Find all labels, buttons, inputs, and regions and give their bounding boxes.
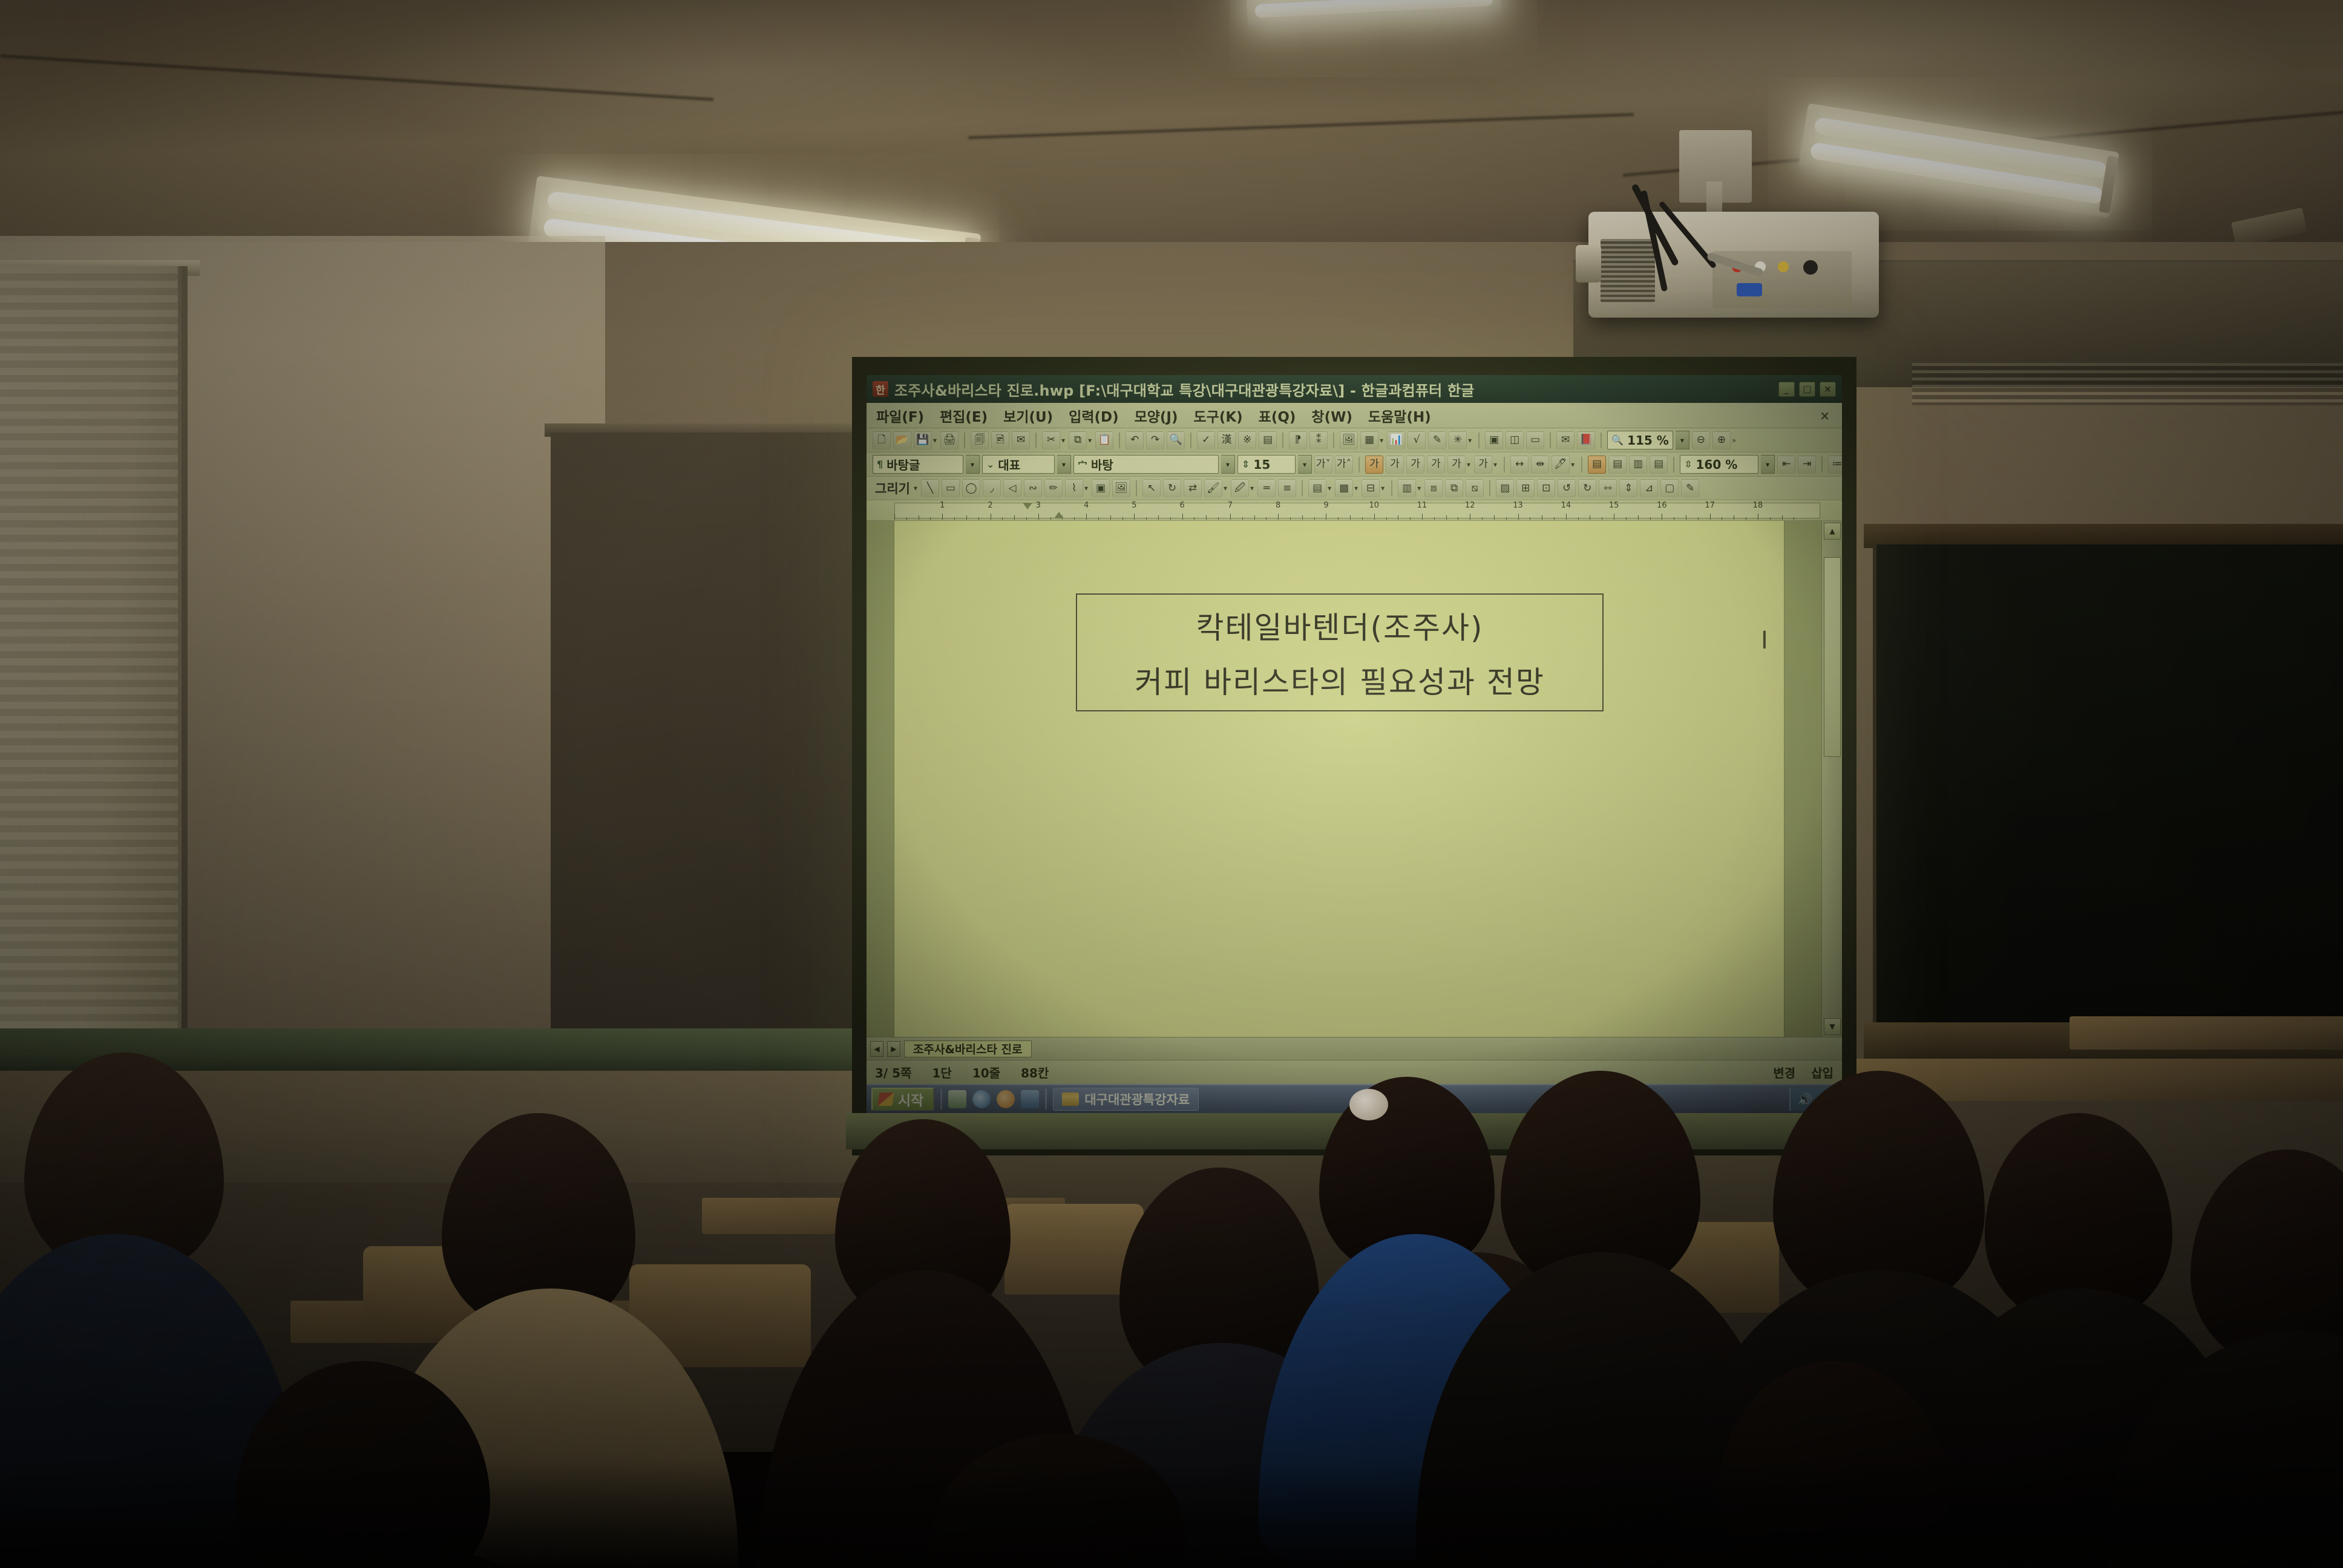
ruler-tick bbox=[1386, 517, 1387, 520]
ruler-tick bbox=[1182, 514, 1183, 520]
ruler-number: 6 bbox=[1180, 501, 1185, 510]
hair-clip-accessory bbox=[1349, 1089, 1388, 1120]
ruler-tick bbox=[1590, 515, 1590, 520]
ruler-tick bbox=[1782, 515, 1783, 520]
envelope-icon[interactable]: ✉ bbox=[1556, 431, 1575, 449]
ruler-tick bbox=[1554, 517, 1555, 520]
text-color-drop-icon[interactable]: ▾ bbox=[1493, 460, 1497, 469]
redo-icon[interactable]: ↷ bbox=[1146, 431, 1164, 449]
ruler-tick bbox=[1770, 517, 1771, 520]
ruler-number: 12 bbox=[1465, 501, 1475, 510]
toolbar-overflow-icon[interactable]: » bbox=[1732, 436, 1736, 445]
ruler-number: 4 bbox=[1084, 501, 1089, 510]
projected-desktop: 한 조주사&바리스타 진로.hwp [F:\대구대학교 특강\대구대관광특강자료… bbox=[867, 375, 1842, 1113]
ruler-tick bbox=[1098, 517, 1099, 520]
ruler-tick bbox=[1506, 517, 1507, 520]
ruler-tick bbox=[1458, 517, 1458, 520]
folder-icon bbox=[1062, 1093, 1079, 1106]
menu-edit[interactable]: 편집(E) bbox=[940, 405, 988, 426]
ruler-tick bbox=[1218, 517, 1219, 520]
line-spacing-combo[interactable]: ⇳ 160 % bbox=[1680, 455, 1758, 474]
start-button[interactable]: 시작 bbox=[871, 1088, 934, 1111]
menu-tools[interactable]: 도구(K) bbox=[1194, 405, 1243, 426]
wall-dark-panel bbox=[551, 433, 871, 1056]
ruler-tick bbox=[1494, 515, 1495, 520]
close-button[interactable]: × bbox=[1820, 382, 1836, 397]
label-icon[interactable]: 📕 bbox=[1577, 431, 1595, 449]
document-close-icon[interactable]: × bbox=[1820, 408, 1832, 423]
ruler-tick bbox=[1626, 517, 1627, 520]
fill-color-icon[interactable]: 🖌 bbox=[1204, 479, 1222, 497]
ruler-tick bbox=[978, 517, 979, 520]
outline-level-value: 대표 bbox=[998, 456, 1020, 473]
ruler-tick bbox=[1110, 515, 1111, 520]
ruler-number: 2 bbox=[988, 501, 992, 510]
projector-port-blue bbox=[1737, 283, 1762, 296]
new-document-icon[interactable]: 🗋 bbox=[873, 431, 891, 449]
decrease-font-icon[interactable]: 가˅ bbox=[1314, 456, 1332, 474]
outline-level-dropdown[interactable]: ▾ bbox=[1057, 455, 1071, 474]
ruler-number: 10 bbox=[1369, 501, 1379, 510]
hwp-app-icon: 한 bbox=[873, 381, 888, 397]
char-spacing-icon[interactable]: ↔ bbox=[1510, 456, 1529, 474]
indent-decrease-icon[interactable]: ⇤ bbox=[1777, 456, 1795, 474]
polygon-tool-icon[interactable]: ◁ bbox=[1003, 479, 1021, 497]
drawing-icon[interactable]: ✎ bbox=[1428, 431, 1446, 449]
shape-drop-icon[interactable]: ▾ bbox=[1468, 436, 1472, 445]
underline-button[interactable]: 가 bbox=[1406, 456, 1424, 474]
zoom-level-value: 115 % bbox=[1627, 433, 1669, 448]
ruler-tick bbox=[1602, 517, 1602, 520]
ruler-tick bbox=[1446, 515, 1447, 520]
ruler-tick bbox=[1350, 515, 1351, 520]
tab-next-button[interactable]: ▶ bbox=[887, 1041, 900, 1057]
chart-icon[interactable]: 📊 bbox=[1387, 431, 1405, 449]
ruler-tick bbox=[1530, 517, 1530, 520]
ruler-number: 11 bbox=[1417, 501, 1427, 510]
ruler-tick bbox=[1014, 515, 1015, 520]
save-drop-icon[interactable]: ▾ bbox=[933, 436, 937, 445]
font-size-value: 15 bbox=[1253, 457, 1270, 472]
ruler-number: 13 bbox=[1513, 501, 1523, 510]
horizontal-ruler[interactable]: 123456789101112131415161718 bbox=[867, 500, 1842, 521]
table-icon[interactable]: ▦ bbox=[1360, 431, 1378, 449]
line-color-drop-icon[interactable]: ▾ bbox=[1250, 484, 1254, 492]
ruler-tick bbox=[966, 515, 967, 520]
bring-front-icon[interactable]: ⧉ bbox=[1445, 479, 1463, 497]
document-page[interactable]: 칵테일바텐더(조주사) 커피 바리스타의 필요성과 전망 강사 : 배승구 bbox=[894, 521, 1784, 1037]
ruler-tick bbox=[1362, 517, 1363, 520]
ruler-tick bbox=[894, 514, 895, 520]
open-file-icon[interactable]: 📂 bbox=[893, 431, 911, 449]
vertical-scrollbar[interactable]: ▲ ▼ bbox=[1821, 521, 1842, 1037]
magnifier-icon: 🔍 bbox=[1611, 434, 1624, 446]
char-width-icon[interactable]: ⇹ bbox=[1531, 456, 1549, 474]
ruler-number: 18 bbox=[1753, 501, 1763, 510]
status-insert-mode: 삽입 bbox=[1811, 1063, 1833, 1081]
ruler-number: 16 bbox=[1657, 501, 1667, 510]
find-icon[interactable]: 🔍 bbox=[1167, 431, 1185, 449]
ruler-tick bbox=[919, 515, 919, 520]
ruler-tick bbox=[1686, 515, 1686, 520]
zoom-level-combo[interactable]: 🔍 115 % bbox=[1607, 431, 1673, 449]
status-change-mode: 변경 bbox=[1773, 1063, 1795, 1081]
ruler-tick bbox=[954, 517, 955, 520]
send-back-icon[interactable]: ⧅ bbox=[1466, 479, 1484, 497]
align-left-icon[interactable]: ▤ bbox=[1608, 456, 1627, 474]
internet-explorer-icon[interactable] bbox=[972, 1090, 991, 1108]
line-style-icon[interactable]: ═ bbox=[1257, 479, 1276, 497]
curve-tool-icon[interactable]: ∾ bbox=[1024, 479, 1042, 497]
menu-input[interactable]: 입력(D) bbox=[1069, 405, 1118, 426]
ruler-number: 15 bbox=[1609, 501, 1619, 510]
print-preview-icon[interactable]: 🗐 bbox=[971, 431, 989, 449]
rectangle-tool-icon[interactable]: ▭ bbox=[942, 479, 960, 497]
ruler-tick bbox=[1614, 514, 1614, 520]
document-canvas[interactable]: 칵테일바텐더(조주사) 커피 바리스타의 필요성과 전망 강사 : 배승구 I … bbox=[867, 521, 1842, 1037]
save-file-icon[interactable]: 💾 bbox=[914, 431, 932, 449]
ruler-tick bbox=[1170, 517, 1171, 520]
scroll-down-button[interactable]: ▼ bbox=[1824, 1018, 1841, 1035]
ruler-tick bbox=[1758, 514, 1758, 520]
ruler-tick bbox=[1194, 517, 1194, 520]
outlook-icon[interactable] bbox=[1021, 1090, 1039, 1108]
group-drop-icon[interactable]: ▾ bbox=[1417, 484, 1421, 492]
lecture-hall-scene: 한 조주사&바리스타 진로.hwp [F:\대구대학교 특강\대구대관광특강자료… bbox=[0, 0, 2343, 1568]
caption-icon[interactable]: ✎ bbox=[1681, 479, 1699, 497]
ruler-tick bbox=[1398, 515, 1398, 520]
ruler-tick bbox=[1002, 517, 1003, 520]
menu-help[interactable]: 도움말(H) bbox=[1368, 405, 1431, 426]
projector-vent bbox=[1601, 239, 1655, 302]
ungroup-icon[interactable]: ⧈ bbox=[1424, 479, 1443, 497]
document-title-line-1: 칵테일바텐더(조주사) bbox=[1196, 604, 1483, 647]
select-object-icon[interactable]: ↖ bbox=[1142, 479, 1161, 497]
3d-effect-icon[interactable]: ▩ bbox=[1335, 479, 1353, 497]
ruler-tick bbox=[1482, 517, 1483, 520]
align-center-icon[interactable]: ▥ bbox=[1629, 456, 1647, 474]
show-desktop-icon[interactable] bbox=[948, 1090, 966, 1108]
highlight-icon[interactable]: 🖊 bbox=[1552, 456, 1570, 474]
ruler-tick bbox=[991, 514, 991, 520]
ruler-tick bbox=[1518, 514, 1519, 520]
font-face-icon: 宀 bbox=[1078, 457, 1087, 472]
start-button-label: 시작 bbox=[898, 1089, 923, 1109]
ruler-tick bbox=[1158, 515, 1159, 520]
align-objects-icon[interactable]: ⊟ bbox=[1362, 479, 1380, 497]
line-tool-icon[interactable]: ╲ bbox=[921, 479, 939, 497]
paragraph-style-combo[interactable]: ¶ 바탕글 bbox=[873, 455, 963, 474]
hwp-title-bar: 한 조주사&바리스타 진로.hwp [F:\대구대학교 특강\대구대관광특강자료… bbox=[867, 375, 1842, 403]
line-color-icon[interactable]: 🖉 bbox=[1231, 479, 1249, 497]
menu-shape[interactable]: 모양(J) bbox=[1135, 405, 1178, 426]
ruler-tick bbox=[1794, 517, 1794, 520]
ruler-number: 1 bbox=[940, 501, 945, 510]
clipart-tool-icon[interactable]: 🖼 bbox=[1112, 479, 1130, 497]
hwp-menu-bar: 파일(F) 편집(E) 보기(U) 입력(D) 모양(J) 도구(K) 표(Q)… bbox=[867, 403, 1842, 428]
ruler-tick bbox=[1638, 515, 1639, 520]
spell-check-icon[interactable]: ✓ bbox=[1197, 431, 1215, 449]
highlight-drop-icon[interactable]: ▾ bbox=[1571, 460, 1575, 469]
font-size-combo[interactable]: ⇕ 15 bbox=[1237, 455, 1296, 474]
cut-icon[interactable]: ✂ bbox=[1042, 431, 1060, 449]
endnote-icon[interactable]: ⁑ bbox=[1309, 431, 1328, 449]
ruler-number: 8 bbox=[1276, 501, 1280, 510]
media-player-icon[interactable] bbox=[997, 1090, 1015, 1108]
textbox-tool-icon[interactable]: ▣ bbox=[1092, 479, 1110, 497]
ruler-number: 17 bbox=[1705, 501, 1715, 510]
ruler-tick bbox=[1710, 514, 1711, 520]
foreground-shadow bbox=[0, 1459, 2343, 1568]
ruler-tick bbox=[1662, 514, 1662, 520]
shadow-drop-icon[interactable]: ▾ bbox=[1328, 484, 1331, 492]
ruler-tick bbox=[1242, 517, 1243, 520]
crop-icon[interactable]: ⊿ bbox=[1640, 479, 1658, 497]
ruler-tick bbox=[1302, 515, 1303, 520]
rotate-icon[interactable]: ↻ bbox=[1163, 479, 1181, 497]
indent-increase-icon[interactable]: ⇥ bbox=[1798, 456, 1816, 474]
menu-table[interactable]: 표(Q) bbox=[1259, 405, 1296, 426]
scroll-thumb[interactable] bbox=[1824, 557, 1841, 757]
ruler-tick bbox=[1134, 514, 1135, 520]
paragraph-style-value: 바탕글 bbox=[886, 456, 920, 473]
numbered-list-icon[interactable]: ≔ bbox=[1828, 456, 1842, 474]
footnote-icon[interactable]: ⁋ bbox=[1289, 431, 1307, 449]
table-drop-icon[interactable]: ▾ bbox=[1380, 436, 1383, 445]
projector-port-yellow bbox=[1778, 261, 1789, 272]
zoom-dropdown-arrow[interactable]: ▾ bbox=[1676, 431, 1689, 449]
ruler-tick bbox=[1422, 514, 1423, 520]
ruler-tick bbox=[1746, 517, 1746, 520]
chalkboard bbox=[1873, 544, 2343, 1028]
ruler-tick bbox=[1206, 515, 1207, 520]
hwp-standard-toolbar: 🗋 📂 💾 ▾ 🖨 🗐 🖻 ✉ ✂ ▾ ⧉ ▾ 📋 ↶ ↷ 🔍 bbox=[867, 428, 1842, 452]
picture-icon[interactable]: 🖼 bbox=[1340, 431, 1358, 449]
rotate-left-icon[interactable]: ↺ bbox=[1558, 479, 1576, 497]
superscript-button[interactable]: 가 bbox=[1447, 456, 1466, 474]
strikethrough-button[interactable]: 가 bbox=[1427, 456, 1445, 474]
ruler-tick bbox=[1290, 517, 1291, 520]
status-page: 3/ 5쪽 bbox=[875, 1063, 912, 1081]
ruler-tick bbox=[1734, 515, 1734, 520]
cut-drop-icon[interactable]: ▾ bbox=[1061, 436, 1065, 445]
desk bbox=[2069, 1016, 2343, 1050]
print-setup-icon[interactable]: 🖻 bbox=[991, 431, 1009, 449]
tab-prev-button[interactable]: ◀ bbox=[870, 1041, 883, 1057]
window-blind bbox=[0, 266, 182, 1065]
drawing-toolbar-label: 그리기 bbox=[873, 479, 913, 497]
arc-tool-icon[interactable]: ◞ bbox=[983, 479, 1001, 497]
ruler-tick bbox=[1326, 514, 1326, 520]
hvac-vent-slats bbox=[1912, 363, 2343, 405]
ruler-number: 9 bbox=[1323, 501, 1328, 510]
ruler-tick bbox=[1122, 517, 1123, 520]
hwp-drawing-toolbar: 그리기 ▾ ╲ ▭ ◯ ◞ ◁ ∾ ✏ ⌇ ▾ ▣ 🖼 ↖ ↻ ⇄ 🖌 ▾ 🖉 bbox=[867, 477, 1842, 500]
italic-button[interactable]: 가 bbox=[1386, 456, 1404, 474]
align-right-icon[interactable]: ▤ bbox=[1650, 456, 1668, 474]
ruler-number: 7 bbox=[1228, 501, 1233, 510]
status-char: 88칸 bbox=[1021, 1063, 1049, 1081]
ruler-tick bbox=[1278, 514, 1279, 520]
ruler-tick bbox=[1566, 514, 1567, 520]
pencil-tool-icon[interactable]: ✏ bbox=[1044, 479, 1063, 497]
ruler-tick bbox=[1254, 515, 1255, 520]
line-width-icon[interactable]: ≡ bbox=[1278, 479, 1296, 497]
ruler-tick bbox=[1230, 514, 1231, 520]
mail-icon[interactable]: ✉ bbox=[1012, 431, 1030, 449]
undo-icon[interactable]: ↶ bbox=[1126, 431, 1144, 449]
print-icon[interactable]: 🖨 bbox=[940, 431, 958, 449]
window-title: 조주사&바리스타 진로.hwp [F:\대구대학교 특강\대구대관광특강자료\]… bbox=[894, 379, 1772, 400]
align-objects-drop-icon[interactable]: ▾ bbox=[1381, 484, 1384, 492]
projector-port-black bbox=[1803, 260, 1818, 275]
ruler-number: 14 bbox=[1561, 501, 1571, 510]
memo-icon[interactable]: ▤ bbox=[1259, 431, 1277, 449]
first-line-indent-marker[interactable] bbox=[1023, 503, 1032, 509]
shape-icon[interactable]: ✳ bbox=[1449, 431, 1467, 449]
minimize-button[interactable]: _ bbox=[1778, 382, 1795, 397]
ellipse-tool-icon[interactable]: ◯ bbox=[962, 479, 980, 497]
scroll-up-button[interactable]: ▲ bbox=[1824, 523, 1841, 540]
document-title-line-2: 커피 바리스타의 필요성과 전망 bbox=[1135, 658, 1545, 702]
status-line: 10줄 bbox=[972, 1063, 1000, 1081]
line-spacing-dropdown[interactable]: ▾ bbox=[1761, 455, 1775, 474]
rotate-right-icon[interactable]: ↻ bbox=[1578, 479, 1596, 497]
superscript-drop-icon[interactable]: ▾ bbox=[1467, 460, 1470, 469]
ruler-tick bbox=[1698, 517, 1699, 520]
ruler-tick bbox=[1470, 514, 1470, 520]
ruler-tick bbox=[1050, 517, 1051, 520]
ruler-tick bbox=[1722, 517, 1722, 520]
ruler-number: 5 bbox=[1132, 501, 1136, 510]
copy-drop-icon[interactable]: ▾ bbox=[1088, 436, 1092, 445]
ruler-tick bbox=[1410, 517, 1411, 520]
paste-icon[interactable]: 📋 bbox=[1095, 431, 1113, 449]
zoom-in-icon[interactable]: ⊕ bbox=[1712, 431, 1731, 449]
form-icon[interactable]: ▣ bbox=[1485, 431, 1503, 449]
title-text-box: 칵테일바텐더(조주사) 커피 바리스타의 필요성과 전망 bbox=[1076, 593, 1604, 711]
ruler-tick bbox=[1542, 515, 1542, 520]
document-tab[interactable]: 조주사&바리스타 진로 bbox=[904, 1040, 1032, 1057]
line-spacing-value: 160 % bbox=[1696, 457, 1738, 472]
increase-font-icon[interactable]: 가˄ bbox=[1335, 456, 1353, 474]
paragraph-style-dropdown[interactable]: ▾ bbox=[966, 455, 980, 474]
ruler-tick bbox=[1038, 514, 1039, 520]
ruler-tick bbox=[1074, 517, 1075, 520]
menu-window[interactable]: 창(W) bbox=[1311, 405, 1352, 426]
font-size-dropdown[interactable]: ▾ bbox=[1298, 455, 1312, 474]
outline-level-icon: ⌄ bbox=[986, 459, 994, 470]
equation-icon[interactable]: √ bbox=[1407, 431, 1426, 449]
ruler-tick bbox=[906, 517, 907, 520]
ruler-tick bbox=[930, 517, 931, 520]
font-face-value: 바탕 bbox=[1091, 456, 1113, 473]
drawing-drop-icon[interactable]: ▾ bbox=[914, 484, 917, 492]
ruler-tick bbox=[1374, 514, 1375, 520]
outline-level-combo[interactable]: ⌄ 대표 bbox=[982, 455, 1055, 474]
left-indent-marker[interactable] bbox=[1054, 512, 1064, 518]
3d-drop-icon[interactable]: ▾ bbox=[1354, 484, 1358, 492]
window-controls: _ □ × bbox=[1778, 382, 1836, 397]
font-face-combo[interactable]: 宀 바탕 bbox=[1073, 455, 1219, 474]
bold-button[interactable]: 가 bbox=[1365, 456, 1383, 474]
paragraph-style-icon: ¶ bbox=[877, 459, 883, 470]
hwp-status-bar: 3/ 5쪽 1단 10줄 88칸 변경 삽입 bbox=[867, 1060, 1842, 1084]
maximize-button[interactable]: □ bbox=[1799, 382, 1815, 397]
font-size-icon: ⇕ bbox=[1242, 459, 1250, 470]
menu-view[interactable]: 보기(U) bbox=[1003, 405, 1053, 426]
line-spacing-icon: ⇳ bbox=[1684, 459, 1692, 470]
document-tab-bar: ◀ ▶ 조주사&바리스타 진로 bbox=[867, 1037, 1842, 1060]
hanja-icon[interactable]: 漢 bbox=[1217, 431, 1236, 449]
ruler-tick bbox=[1314, 517, 1315, 520]
connector-drop-icon[interactable]: ▾ bbox=[1084, 484, 1088, 492]
grid-icon[interactable]: ⊞ bbox=[1516, 479, 1535, 497]
flip-icon[interactable]: ⇄ bbox=[1184, 479, 1202, 497]
connector-tool-icon[interactable]: ⌇ bbox=[1065, 479, 1083, 497]
flip-h-icon[interactable]: ⇿ bbox=[1599, 479, 1617, 497]
ruler-tick bbox=[1434, 517, 1435, 520]
ruler-tick bbox=[1650, 517, 1651, 520]
object-properties-icon[interactable]: ▨ bbox=[1496, 479, 1514, 497]
menu-file[interactable]: 파일(F) bbox=[876, 405, 924, 426]
align-justify-icon[interactable]: ▤ bbox=[1588, 456, 1606, 474]
flip-v-icon[interactable]: ⇕ bbox=[1619, 479, 1637, 497]
projector-lens bbox=[1576, 245, 1601, 283]
snap-icon[interactable]: ⊡ bbox=[1537, 479, 1555, 497]
insert-frame-icon[interactable]: ▢ bbox=[1660, 479, 1679, 497]
taskbar-item-label: 대구대관광특강자료 bbox=[1084, 1090, 1190, 1108]
windows-flag-icon bbox=[877, 1093, 894, 1106]
shadow-icon[interactable]: ▤ bbox=[1308, 479, 1326, 497]
zoom-out-icon[interactable]: ⊖ bbox=[1692, 431, 1710, 449]
ruler-tick bbox=[1026, 517, 1027, 520]
ruler-tick bbox=[1086, 514, 1087, 520]
ruler-tick bbox=[1578, 517, 1579, 520]
ruler-tick bbox=[1674, 517, 1674, 520]
taskbar-item-folder[interactable]: 대구대관광특강자료 bbox=[1053, 1088, 1199, 1111]
text-caret: I bbox=[1761, 629, 1768, 653]
ruler-tick bbox=[942, 514, 943, 520]
ruler-tick bbox=[1146, 517, 1147, 520]
font-face-dropdown[interactable]: ▾ bbox=[1221, 455, 1235, 474]
text-color-icon[interactable]: 가 bbox=[1474, 456, 1492, 474]
hwp-application-window: 한 조주사&바리스타 진로.hwp [F:\대구대학교 특강\대구대관광특강자료… bbox=[867, 375, 1842, 1113]
ruler-number: 3 bbox=[1036, 501, 1041, 510]
fill-color-drop-icon[interactable]: ▾ bbox=[1224, 484, 1227, 492]
ruler-tick bbox=[1338, 517, 1339, 520]
status-column: 1단 bbox=[932, 1063, 952, 1081]
copy-icon[interactable]: ⧉ bbox=[1069, 431, 1087, 449]
hwp-format-toolbar: ¶ 바탕글 ▾ ⌄ 대표 ▾ 宀 바탕 ▾ ⇕ 15 ▾ bbox=[867, 452, 1842, 477]
page-layout-icon[interactable]: ▭ bbox=[1526, 431, 1544, 449]
ruler-track bbox=[894, 503, 1820, 518]
frame-icon[interactable]: ◫ bbox=[1506, 431, 1524, 449]
group-icon[interactable]: ▥ bbox=[1398, 479, 1416, 497]
special-char-icon[interactable]: ※ bbox=[1238, 431, 1256, 449]
ruler-tick bbox=[1266, 517, 1267, 520]
